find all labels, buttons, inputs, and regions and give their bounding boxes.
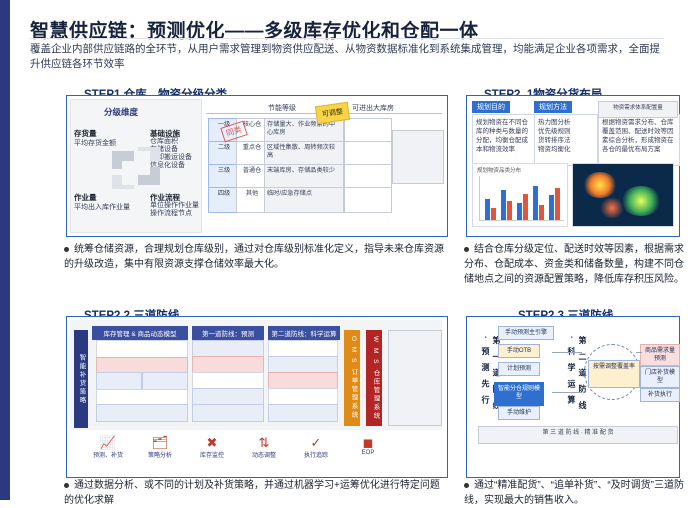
step21-right-list-0: 物资需求体系配置量	[598, 101, 678, 118]
step21-card-0-title: 规划目的	[472, 101, 510, 113]
step23-node-5: 按需调整覆盖率	[588, 360, 640, 388]
step1-col-header-0: 节能等级	[268, 103, 296, 113]
step22-footer-label-5: EOP	[362, 450, 375, 456]
step21-card-0-body: 规划物资在不同仓库的种类与数量的分配，均衡仓配成本和物流效率	[472, 114, 536, 166]
step22-bullet: 通过数据分析、或不同的计划及补货策略，并通过机器学习+运筹优化进行特定问题的优化…	[64, 478, 446, 508]
bar-c2	[523, 194, 528, 220]
heat-blob-1	[583, 172, 617, 198]
step21-bullet-text: 结合仓库分级定位、配送时效等因素，根据需求分布、仓配成本、资金类和储备数量，构建…	[464, 244, 684, 285]
step23-node-4: 手动维护	[498, 406, 540, 420]
step23-node-2: 计划预测	[498, 362, 540, 376]
bar-a2	[491, 208, 496, 220]
chart-title: 规划物资品类分布	[477, 166, 521, 174]
step22-cell-9	[192, 388, 264, 405]
step22-footer-icon-5: ◼EOP	[346, 436, 390, 456]
step22-cell-8	[192, 372, 264, 389]
step1-extra-cell-3	[344, 187, 392, 213]
step22-cell-0	[96, 340, 188, 358]
monitor-icon: ✖	[190, 436, 234, 450]
step22-footer-label-3: 动态调整	[252, 453, 276, 459]
step23-node-7: 门店补货模型	[640, 366, 680, 388]
step22-cell-12	[268, 356, 338, 373]
bar-a1	[485, 199, 490, 220]
step22-footer-label-1: 策略分析	[148, 453, 172, 459]
step22-cell-5	[96, 404, 188, 422]
step23-node-6: 商品需求量预测	[640, 344, 680, 366]
step22-column-1: 第一道防线：预测	[192, 326, 264, 340]
step1-left-label-1-sub: 平均出入库作业量	[74, 202, 130, 212]
step23-connector-0	[552, 352, 582, 353]
step23-node-8: 补货执行	[640, 388, 680, 402]
chart-plot-area	[479, 176, 563, 220]
step22-footer-label-2: 库存监控	[200, 453, 224, 459]
step21-bullet: 结合仓库分级定位、配送时效等因素，根据需求分布、仓配成本、资金类和储备数量，构建…	[464, 242, 686, 287]
step22-cell-15	[268, 404, 338, 422]
bullet-dot	[464, 247, 469, 252]
step21-card-1-title: 规划方法	[534, 101, 572, 113]
adjust-icon: ⇅	[242, 436, 286, 450]
step22-side-tag-2: W M S 仓库管理系统	[366, 330, 382, 426]
step23-node-0: 手动预测主引擎	[498, 326, 554, 340]
step1-bullet: 统筹仓储资源，合理规划仓库级别，通过对仓库级别标准化定义，指导未来仓库资源的升级…	[64, 242, 446, 272]
slide-root: 智慧供应链：预测优化——多级库存优化和仓配一体 覆盖企业内部供应链路的全环节，从…	[0, 0, 692, 500]
bullet-dot	[64, 247, 69, 252]
step22-footer-icon-2: ✖库存监控	[190, 436, 234, 459]
bar-b1	[501, 190, 506, 220]
heat-blob-3	[599, 198, 625, 218]
page-subtitle: 覆盖企业内部供应链路的全环节，从用户需求管理到物资供应配送、从物资数据标准化到系…	[30, 42, 670, 72]
eop-icon: ◼	[346, 436, 390, 450]
step22-footer-label-4: 执行追踪	[304, 453, 328, 459]
step22-cell-6	[192, 340, 264, 357]
step23-connector-2	[636, 352, 642, 353]
header-divider	[30, 38, 664, 39]
step22-cell-13	[268, 372, 338, 389]
step22-column-0: 库存管理 & 商品动态模型	[92, 326, 188, 340]
left-accent-bar	[0, 0, 10, 500]
step1-row-3-note: 临时/应急存储点	[264, 187, 344, 213]
bar-b2	[507, 201, 512, 220]
step22-footer-icon-1: 🗂策略分析	[138, 436, 182, 459]
bullet-dot	[64, 483, 69, 488]
bar-e2	[555, 188, 560, 220]
step23-bullet-text: 通过“精准配货”、“追单补货”、“及时调货”三道防线，实现最大的销售收入。	[464, 480, 684, 506]
step1-dimension-title: 分级维度	[104, 106, 138, 118]
step22-cell-2	[96, 372, 142, 390]
heat-blob-2	[621, 186, 661, 216]
step22-side-tag-0: 智能补货策略	[74, 330, 88, 428]
step1-summary-cell	[392, 130, 444, 184]
step23-bullet: 通过“精准配货”、“追单补货”、“及时调货”三道防线，实现最大的销售收入。	[464, 478, 686, 508]
bar-d1	[533, 186, 538, 220]
step23-footer-strip: 第 三 道 防 线 · 精 准 配 货	[478, 426, 678, 444]
step22-column-2: 第二道防线：科学运算	[268, 326, 340, 340]
step21-heatmap	[572, 163, 674, 227]
bar-e1	[549, 195, 554, 220]
step22-footer-icon-4: ✓执行追踪	[294, 436, 338, 459]
step23-node-1: 手动OTB	[498, 344, 540, 358]
step22-cell-1	[96, 357, 188, 373]
step21-bar-chart: 规划物资品类分布	[472, 163, 568, 227]
step22-cell-4	[96, 389, 188, 405]
step22-footer-icon-3: ⇅动态调整	[242, 436, 286, 459]
bar-c1	[517, 203, 522, 220]
step1-bullet-text: 统筹仓储资源，合理规划仓库级别，通过对仓库级别标准化定义，指导未来仓库资源的升级…	[64, 244, 444, 270]
chart-icon: 📈	[86, 436, 130, 450]
step22-side-tag-1: O M S 订单管理系统	[344, 330, 360, 426]
pinwheel-icon	[108, 145, 164, 191]
track-icon: ✓	[294, 436, 338, 450]
step22-cell-14	[268, 388, 338, 405]
bar-d2	[539, 205, 544, 220]
step1-col-header-1: 可进出大库房	[352, 103, 394, 113]
bullet-dot	[464, 483, 469, 488]
step23-node-3: 智能分仓规则模型	[494, 382, 544, 406]
analysis-icon: 🗂	[138, 436, 182, 450]
step22-cell-11	[268, 340, 338, 357]
step23-connector-1	[552, 392, 582, 393]
step22-cell-10	[192, 404, 264, 422]
step22-cell-3	[142, 372, 188, 390]
step21-card-1-body: 热力图分析 优先级规则 货转排序法 物资均衡化	[534, 114, 598, 166]
step22-cell-7	[192, 356, 264, 373]
step1-right-label-1-sub: 单位操作作业量 操作流程节点	[150, 202, 199, 218]
step22-footer-icon-0: 📈预测、补货	[86, 436, 130, 459]
step22-footer-label-0: 预测、补货	[93, 453, 123, 459]
step22-bullet-text: 通过数据分析、或不同的计划及补货策略，并通过机器学习+运筹优化进行特定问题的优化…	[64, 480, 440, 506]
step22-right-note	[388, 330, 442, 426]
step21-card-2-body: 根据物资需求分布、仓库覆盖范围、配送时效等因素综合分析，形成物资在各仓的最优布局…	[598, 114, 680, 166]
